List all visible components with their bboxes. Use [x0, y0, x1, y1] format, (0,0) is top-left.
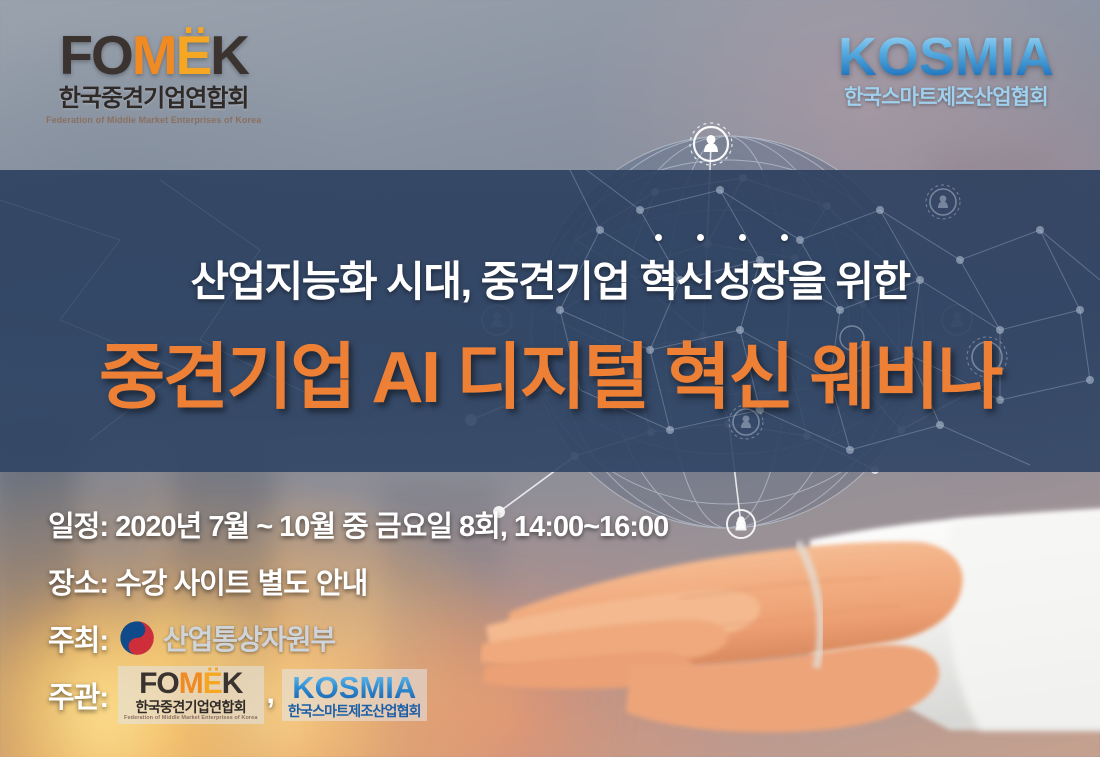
kosmia-wordmark: KOSMIA	[838, 30, 1054, 84]
taegeuk-icon	[118, 619, 156, 657]
fomek-wordmark: FOMËK	[59, 28, 248, 83]
kosmia-korean-name: 한국스마트제조산업협회	[288, 703, 421, 720]
fomek-korean-name: 한국중견기업연합회	[59, 85, 249, 113]
fomek-wordmark-part-m: M	[132, 24, 176, 86]
info-row-schedule: 일정: 2020년 7월 ~ 10월 중 금요일 8회, 14:00~16:00	[48, 504, 788, 544]
venue-line: 장소: 수강 사이트 별도 안내	[48, 560, 367, 602]
emphasis-dots	[655, 234, 788, 241]
emphasis-dot	[781, 234, 788, 241]
host-label: 주최:	[48, 617, 108, 659]
info-row-venue: 장소: 수강 사이트 별도 안내	[48, 561, 788, 601]
fomek-logo[interactable]: FOMËK 한국중견기업연합회 Federation of Middle Mar…	[46, 28, 261, 126]
kosmia-korean-name: 한국스마트제조산업협회	[844, 85, 1048, 110]
event-info: 일정: 2020년 7월 ~ 10월 중 금요일 8회, 14:00~16:00…	[48, 504, 788, 715]
emphasis-dot	[655, 234, 662, 241]
fomek-wordmark-part-fo: FO	[139, 667, 179, 700]
fomek-english-name: Federation of Middle Market Enterprises …	[124, 715, 257, 722]
fomek-wordmark-part-e: Ë	[176, 24, 211, 86]
fomek-wordmark-part-k: K	[210, 24, 248, 86]
schedule-line: 일정: 2020년 7월 ~ 10월 중 금요일 8회, 14:00~16:00	[48, 503, 668, 545]
fomek-wordmark-part-m: M	[179, 667, 203, 700]
organizer-fomek-logo[interactable]: FOMËK 한국중견기업연합회 Federation of Middle Mar…	[118, 666, 263, 724]
fomek-wordmark-part-fo: FO	[59, 24, 131, 86]
fomek-wordmark-part-k: K	[222, 667, 243, 700]
host-name: 산업통상자원부	[163, 618, 335, 658]
organizer-label: 주관:	[48, 674, 108, 716]
info-row-organizer: 주관: FOMËK 한국중견기업연합회 Federation of Middle…	[48, 675, 788, 715]
emphasis-dot	[697, 234, 704, 241]
kosmia-wordmark: KOSMIA	[292, 672, 416, 703]
info-row-host: 주최: 산업통상자원부	[48, 618, 788, 658]
hero-subtitle: 산업지능화 시대, 중견기업 혁신성장을 위한	[0, 248, 1100, 309]
kosmia-logo[interactable]: KOSMIA 한국스마트제조산업협회	[838, 30, 1054, 110]
emphasis-dot	[739, 234, 746, 241]
fomek-wordmark: FOMËK	[139, 669, 242, 699]
hero-title: 중견기업 AI 디지털 혁신 웨비나	[0, 318, 1100, 423]
fomek-korean-name: 한국중견기업연합회	[136, 699, 247, 715]
organizer-separator: ,	[267, 677, 275, 715]
organizer-kosmia-logo[interactable]: KOSMIA 한국스마트제조산업협회	[282, 669, 427, 722]
fomek-english-name: Federation of Middle Market Enterprises …	[46, 115, 261, 127]
fomek-wordmark-part-e: Ë	[203, 667, 222, 700]
poster-canvas: FOMËK 한국중견기업연합회 Federation of Middle Mar…	[0, 0, 1100, 757]
